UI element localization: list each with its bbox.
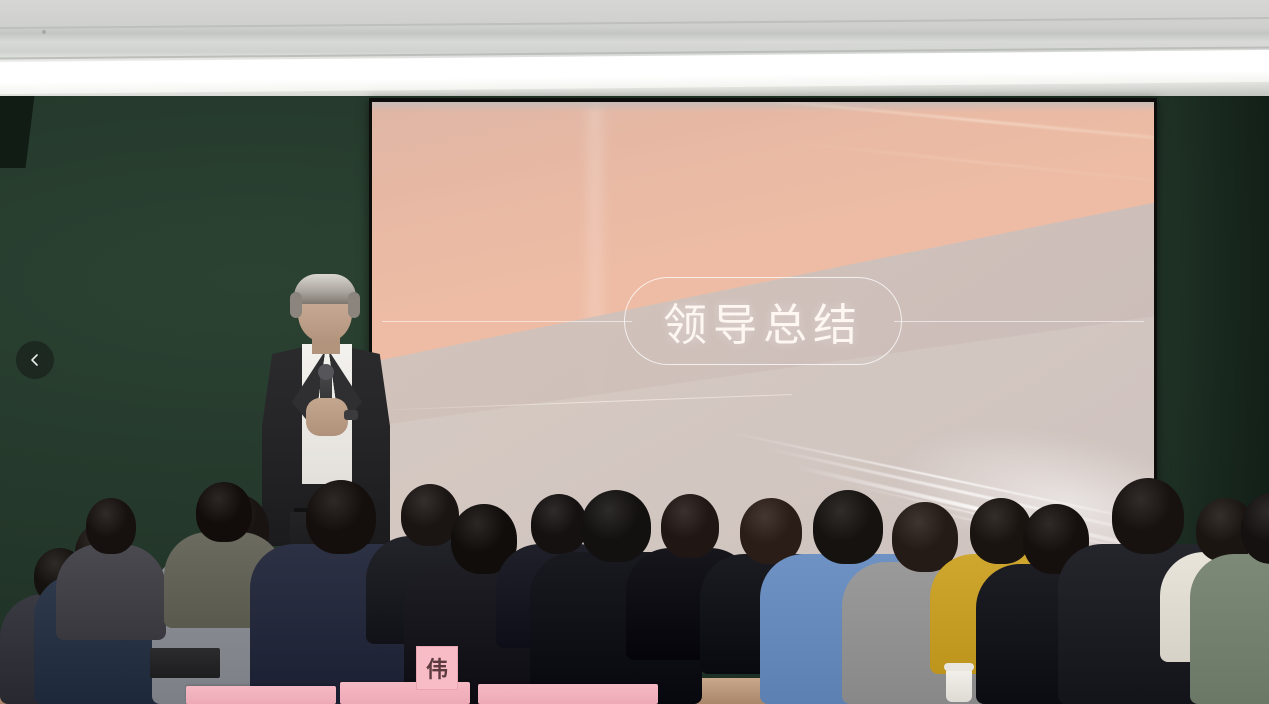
speaker-hair-side xyxy=(290,292,302,318)
audience-member-body xyxy=(56,544,166,640)
placard-base xyxy=(186,686,336,704)
drink-cup xyxy=(946,668,972,702)
placard-character: 伟 xyxy=(426,652,448,684)
screen-top-sheen xyxy=(372,102,1154,112)
microphone-head xyxy=(318,364,334,380)
placard-base xyxy=(478,684,658,704)
ceiling xyxy=(0,0,1269,104)
slide-title-group: 领导总结 xyxy=(372,277,1154,367)
ceiling-fixing xyxy=(42,30,46,34)
audience-member-body xyxy=(1190,554,1269,704)
cup-lid xyxy=(944,663,974,671)
slide-light-streak xyxy=(753,138,1154,187)
audience-member xyxy=(1190,456,1269,704)
slide-title-text: 领导总结 xyxy=(663,289,863,353)
slide-rule-right xyxy=(894,321,1144,322)
speaker-hair xyxy=(294,274,356,304)
chevron-left-icon xyxy=(27,352,43,368)
slide-rule-left xyxy=(382,321,632,322)
prev-image-button[interactable] xyxy=(16,341,54,379)
audience-member-head xyxy=(86,498,136,554)
speaker-hair-side xyxy=(348,292,360,318)
photo-viewer-stage: 领导总结 伟 xyxy=(0,0,1269,704)
laptop xyxy=(150,648,220,678)
slide-title-pill: 领导总结 xyxy=(624,277,902,365)
speaker-watch xyxy=(344,410,358,420)
name-placard: 伟 xyxy=(416,646,458,690)
audience-member-head xyxy=(196,482,252,542)
audience-member xyxy=(56,480,166,640)
ceiling-seam xyxy=(0,17,1269,29)
